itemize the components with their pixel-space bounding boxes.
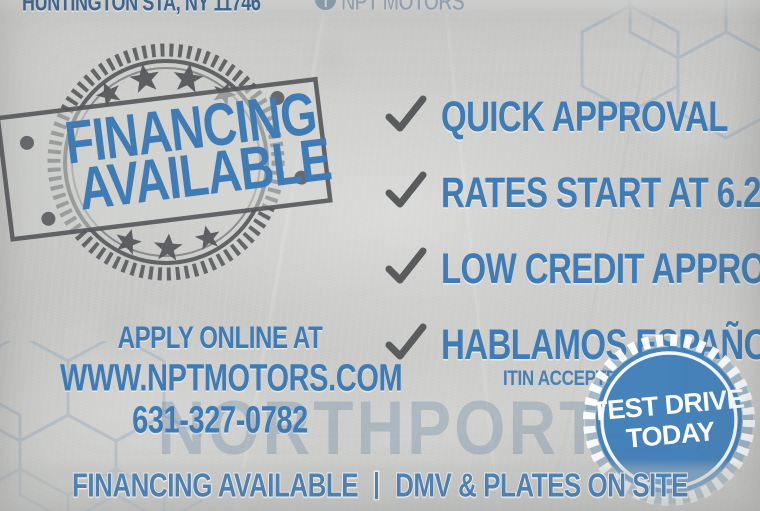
benefit-label: RATES START AT 6.2% — [441, 171, 760, 213]
apply-contact-block: APPLY ONLINE AT WWW.NPTMOTORS.COM 631-32… — [60, 322, 380, 433]
bottom-bar-divider — [375, 472, 378, 499]
benefit-label: LOW CREDIT APPROVED — [441, 247, 760, 289]
header-strip: HUNTINGTON STA, NY 11746 NPT MOTORS — [0, 0, 760, 22]
bottom-bar-financing-text: FINANCING AVAILABLE — [72, 468, 358, 502]
apply-online-label: APPLY ONLINE AT — [60, 322, 380, 357]
checkmark-icon — [385, 95, 427, 137]
financing-available-stamp: FINANCING AVAILABLE — [16, 34, 316, 296]
list-item: RATES START AT 6.2% — [385, 154, 753, 230]
bottom-bar-dmv-text: DMV & PLATES ON SITE — [395, 468, 688, 502]
plus-circle-icon — [315, 0, 336, 10]
brand-lockup: NPT MOTORS — [315, 0, 464, 11]
list-item: QUICK APPROVAL — [385, 78, 753, 154]
checkmark-icon — [385, 171, 427, 213]
website-link[interactable]: WWW.NPTMOTORS.COM — [60, 358, 380, 400]
checkmark-icon — [385, 247, 427, 289]
phone-number[interactable]: 631-327-0782 — [60, 400, 380, 442]
benefit-label: QUICK APPROVAL — [441, 95, 728, 137]
bottom-info-bar: FINANCING AVAILABLE DMV & PLATES ON SITE — [0, 459, 760, 511]
stamp-plaque: FINANCING AVAILABLE — [0, 79, 335, 240]
advertisement-canvas: NORTHPORT HUNTINGTON STA, NY 11746 NPT M… — [0, 0, 760, 511]
bottom-bar-content: FINANCING AVAILABLE DMV & PLATES ON SITE — [72, 472, 688, 499]
list-item: LOW CREDIT APPROVED — [385, 230, 753, 306]
brand-name: NPT MOTORS — [341, 0, 464, 18]
dealer-address: HUNTINGTON STA, NY 11746 — [22, 0, 260, 17]
